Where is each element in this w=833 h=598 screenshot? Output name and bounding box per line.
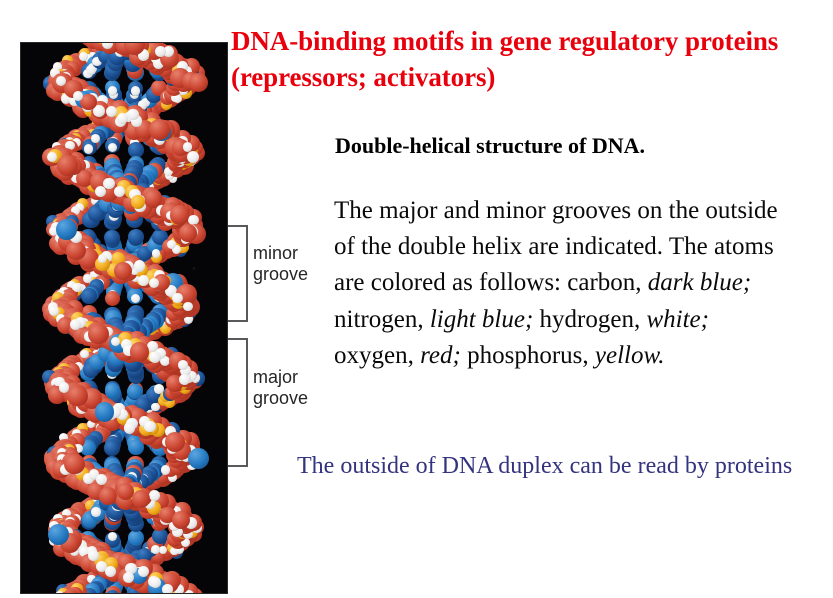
caption-segment-4: oxygen, [334, 342, 420, 369]
atom-sphere [165, 432, 185, 452]
atom-sphere [152, 528, 168, 544]
atom-sphere [91, 507, 101, 517]
atom-sphere [114, 186, 125, 197]
atom-sphere [138, 275, 149, 286]
slide-canvas: minor groove major groove DNA-binding mo… [0, 0, 833, 598]
atom-sphere [128, 530, 144, 546]
atom-sphere [95, 402, 115, 422]
caption-segment-5: phosphorus, [461, 342, 595, 369]
atom-sphere [179, 224, 197, 242]
caption-segment-2: nitrogen, [334, 306, 430, 333]
atom-sphere [170, 205, 189, 224]
atom-sphere [161, 465, 170, 474]
atom-sphere [149, 119, 170, 140]
atom-sphere [183, 302, 193, 312]
atom-sphere [128, 229, 144, 245]
atom-sphere [172, 293, 182, 303]
atom-sphere [98, 254, 107, 263]
minor-groove-label: minor groove [253, 243, 308, 285]
atom-sphere [138, 566, 149, 577]
caption-italic-red: red; [420, 342, 461, 369]
atom-sphere [178, 360, 188, 370]
caption-italic-light-blue: light blue; [430, 306, 533, 333]
major-groove-label: major groove [253, 367, 308, 409]
atom-sphere [167, 240, 176, 249]
atom-sphere [57, 155, 78, 176]
atom-sphere [105, 291, 121, 307]
atom-sphere [108, 143, 117, 152]
atom-sphere [88, 550, 99, 561]
atom-sphere [134, 260, 145, 271]
atom-sphere [64, 454, 85, 475]
atom-sphere [79, 52, 88, 61]
figure-subtitle: Double-helical structure of DNA. [335, 131, 815, 161]
caption-segment-3: hydrogen, [533, 306, 646, 333]
atom-sphere [131, 86, 140, 95]
caption-italic-dark-blue: dark blue; [648, 269, 751, 296]
atom-sphere [179, 374, 190, 385]
atom-sphere [188, 448, 209, 469]
atom-sphere [84, 144, 93, 153]
figure-caption-text: The major and minor grooves on the outsi… [334, 193, 784, 374]
atom-sphere [127, 109, 138, 120]
caption-italic-white: white; [646, 306, 709, 333]
atom-sphere [104, 230, 120, 246]
atom-sphere [149, 351, 161, 363]
atom-sphere [131, 195, 145, 209]
atom-sphere [144, 421, 155, 432]
atom-sphere [96, 474, 107, 485]
atom-sphere [152, 249, 161, 258]
atom-sphere [104, 440, 120, 456]
page-title: DNA-binding motifs in gene regulatory pr… [231, 23, 831, 95]
atom-sphere [162, 584, 173, 593]
minor-groove-bracket [228, 225, 248, 322]
major-groove-bracket [228, 338, 248, 467]
atom-sphere [88, 324, 109, 345]
atom-sphere [81, 288, 97, 304]
atom-sphere [150, 577, 161, 588]
atom-sphere [103, 178, 115, 190]
atom-sphere [151, 545, 160, 554]
atom-sphere [108, 86, 117, 95]
closing-note-text: The outside of DNA duplex can be read by… [297, 448, 807, 484]
atom-sphere [56, 219, 77, 240]
atom-sphere [189, 73, 208, 92]
atom-sphere [124, 422, 135, 433]
dna-double-helix-image [21, 43, 227, 593]
atom-sphere [49, 306, 59, 316]
caption-italic-yellow: yellow. [595, 342, 665, 369]
atom-sphere [67, 386, 88, 407]
